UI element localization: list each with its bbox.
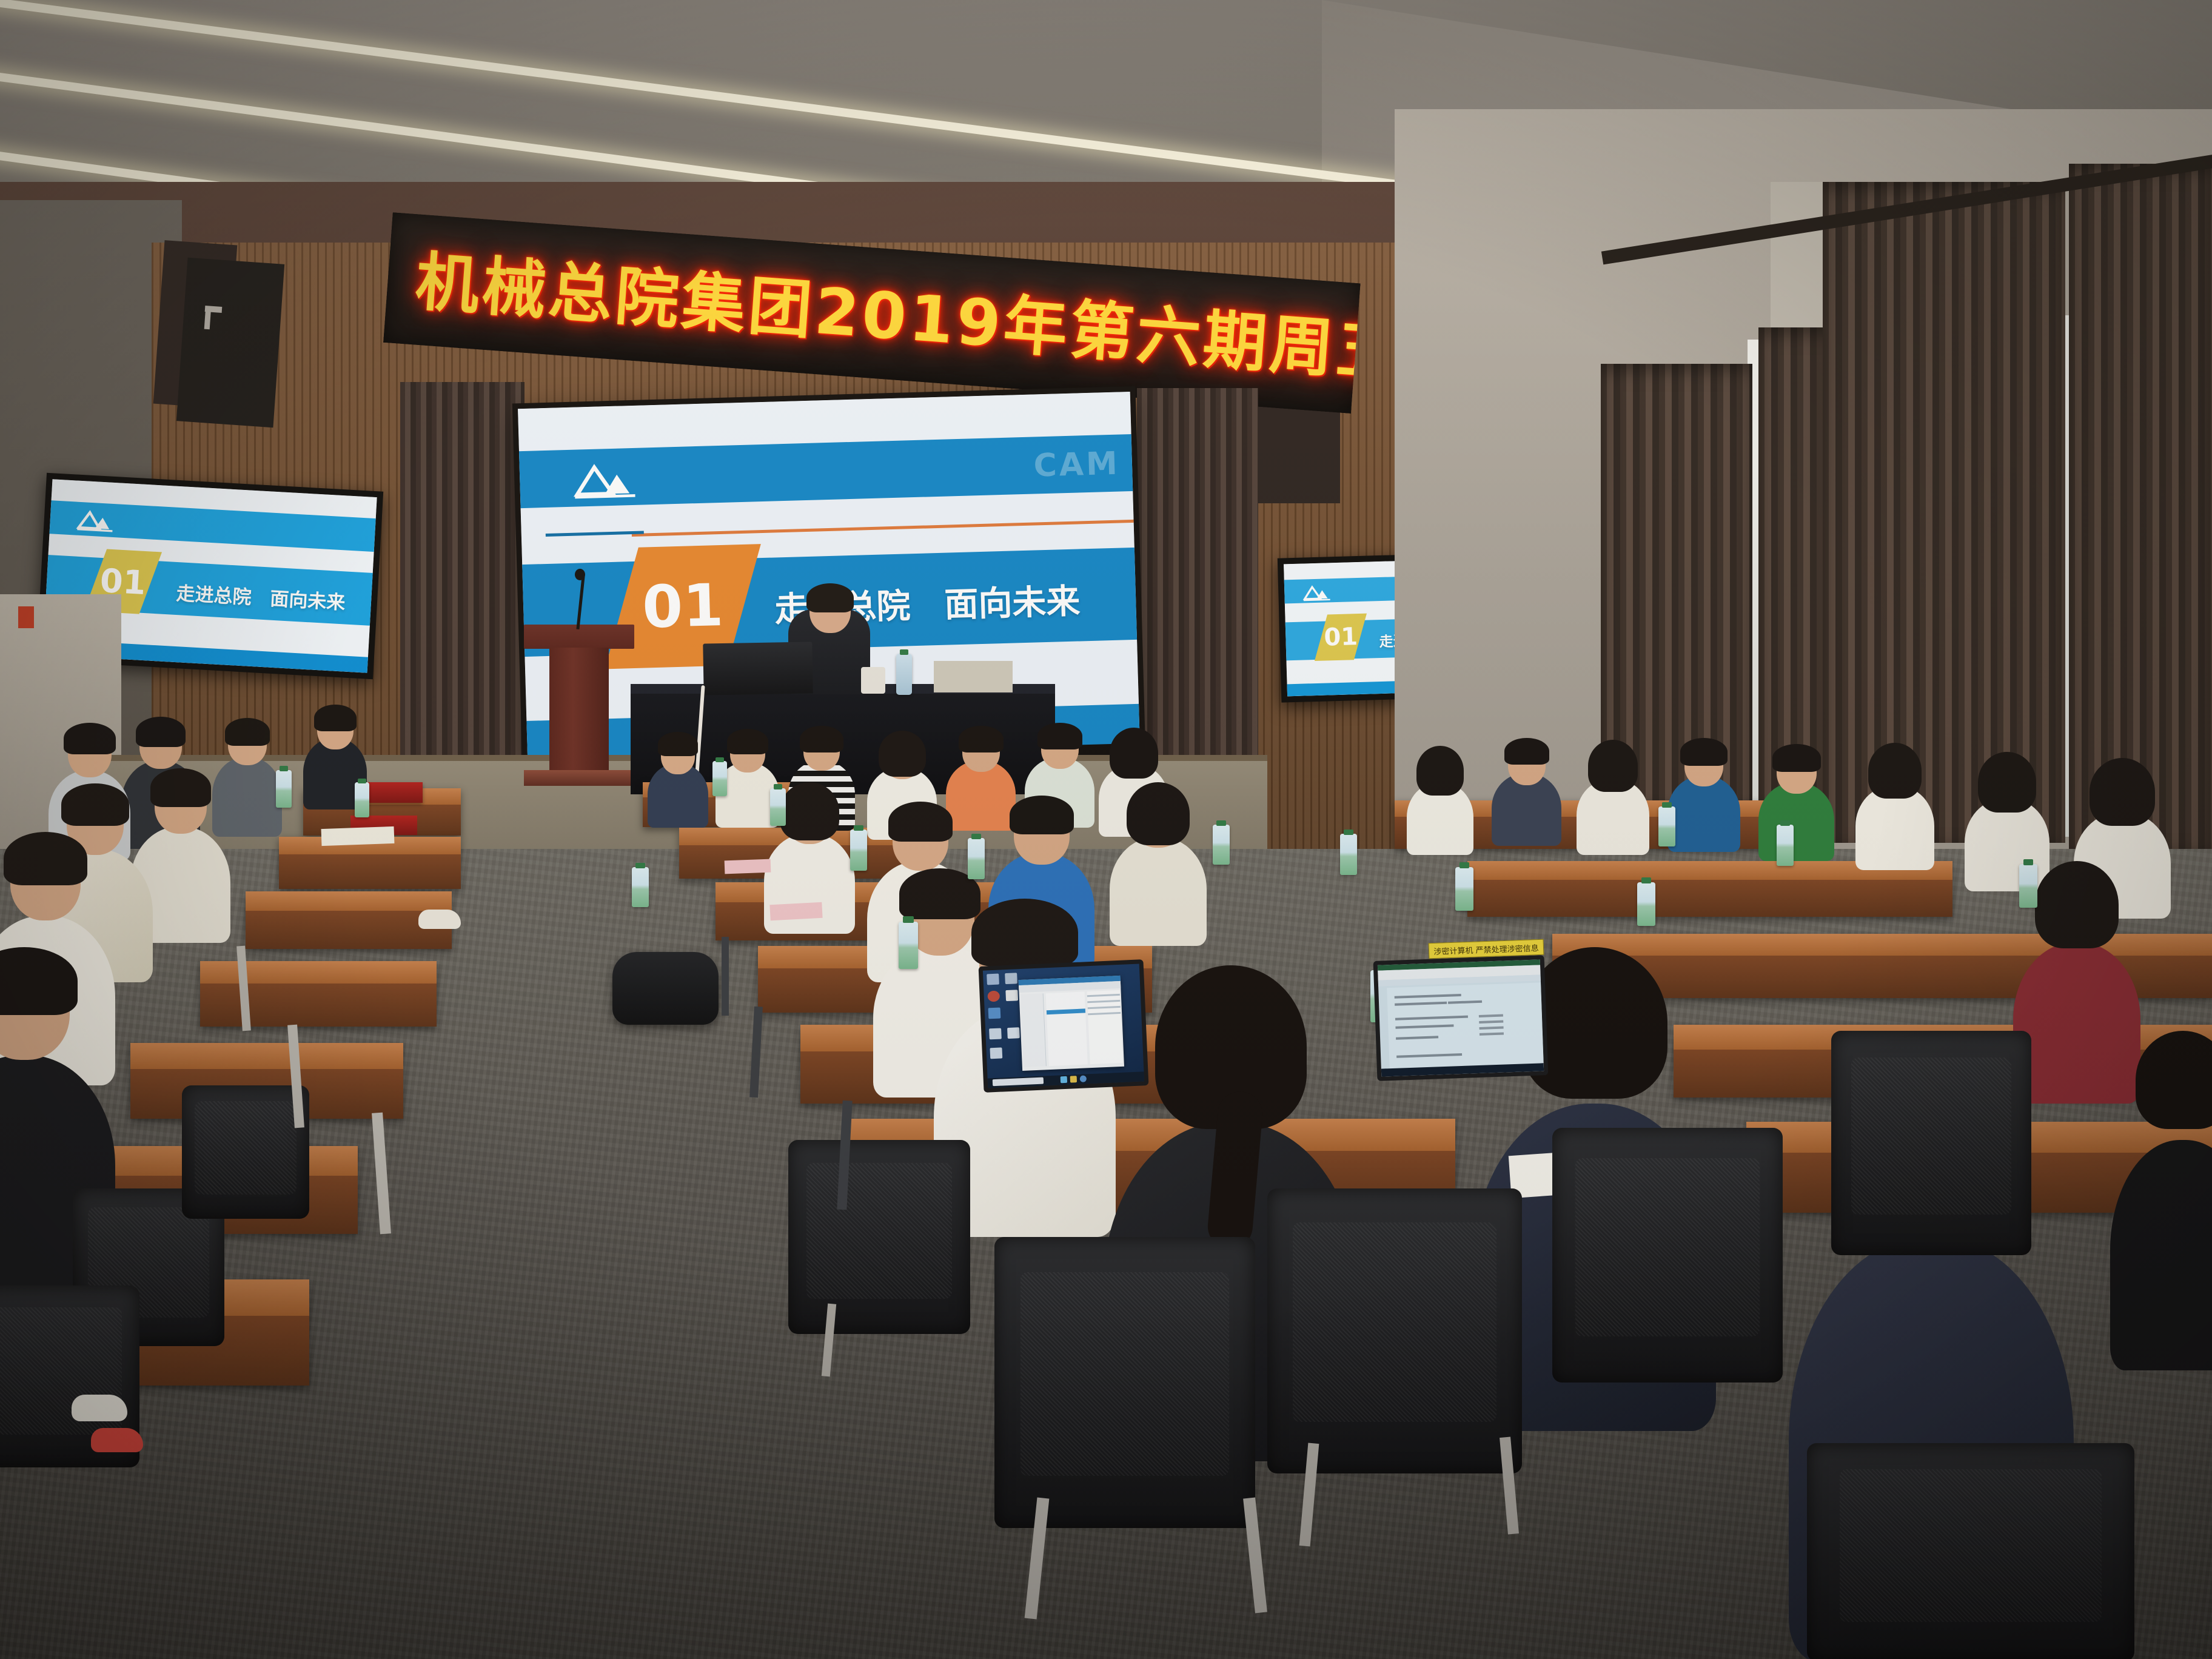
- attendee: [648, 731, 708, 828]
- paper-note: [769, 902, 822, 920]
- chair[interactable]: [788, 1140, 970, 1334]
- paper-note: [725, 859, 771, 874]
- water-bottle: [1658, 806, 1675, 846]
- emergency-sign: [18, 606, 34, 628]
- section-number: 01: [641, 571, 724, 642]
- stage-door[interactable]: [176, 258, 284, 428]
- water-bottle: [1213, 825, 1230, 865]
- lecture-hall-photo: 机械总院集团2019年第六期周五大讲堂 CAM 01: [0, 0, 2212, 1659]
- attendee: [2110, 1031, 2212, 1370]
- attendee: [1758, 743, 1834, 861]
- water-bottle: [770, 788, 786, 826]
- water-bottle: [1637, 882, 1655, 926]
- shoe: [418, 910, 461, 929]
- section-number: 01: [1323, 623, 1358, 652]
- water-bottle: [276, 770, 292, 808]
- microphone-head-icon: [575, 569, 585, 580]
- water-bottle: [632, 867, 649, 907]
- chair[interactable]: [1831, 1031, 2031, 1255]
- cam-mountain-logo-icon: [72, 509, 119, 534]
- water-bottle: [899, 922, 918, 969]
- water-bottle: [1777, 825, 1794, 866]
- desk: [279, 837, 461, 889]
- attendee: [1110, 782, 1207, 946]
- presenter-hair: [806, 583, 854, 612]
- water-bottle: [712, 761, 727, 796]
- chair[interactable]: [182, 1085, 309, 1219]
- water-bottle: [355, 782, 369, 817]
- backpack: [612, 952, 719, 1025]
- stage-curtain-right: [1137, 388, 1258, 764]
- desk: [200, 961, 437, 1027]
- chair[interactable]: [994, 1237, 1255, 1528]
- attendee: [1855, 743, 1934, 870]
- tea-cup: [861, 667, 885, 694]
- cam-mountain-logo-icon: [565, 460, 646, 501]
- chair[interactable]: [1267, 1188, 1522, 1473]
- stage-curtain-left: [400, 382, 525, 770]
- stage-panel: [934, 661, 1013, 692]
- water-bottle: [896, 654, 912, 695]
- chair[interactable]: [1552, 1128, 1783, 1382]
- chair[interactable]: [1807, 1443, 2134, 1659]
- water-bottle: [1340, 834, 1357, 875]
- paper-note: [321, 826, 395, 846]
- presenter-laptop: [703, 642, 813, 695]
- laptop-security-sticker-text: 涉密计算机 严禁处理涉密信息: [1433, 941, 1539, 956]
- slide-watermark: CAM: [1033, 445, 1121, 484]
- attendee: [1492, 737, 1561, 846]
- window-curtain[interactable]: [2069, 164, 2212, 849]
- podium: [534, 625, 625, 791]
- water-bottle: [1455, 867, 1473, 911]
- attendee: [1577, 740, 1649, 855]
- attendee-laptop-right[interactable]: [1373, 955, 1549, 1081]
- shoe: [91, 1428, 143, 1452]
- shoe: [72, 1395, 127, 1421]
- attendee: [1407, 746, 1473, 855]
- desk-leg: [722, 937, 729, 1016]
- water-bottle: [850, 829, 867, 871]
- attendee: [1667, 737, 1740, 852]
- water-bottle: [968, 838, 985, 879]
- water-bottle: [2019, 864, 2037, 908]
- cam-mountain-logo-icon: [1301, 584, 1334, 602]
- attendee-laptop-left[interactable]: [979, 959, 1149, 1093]
